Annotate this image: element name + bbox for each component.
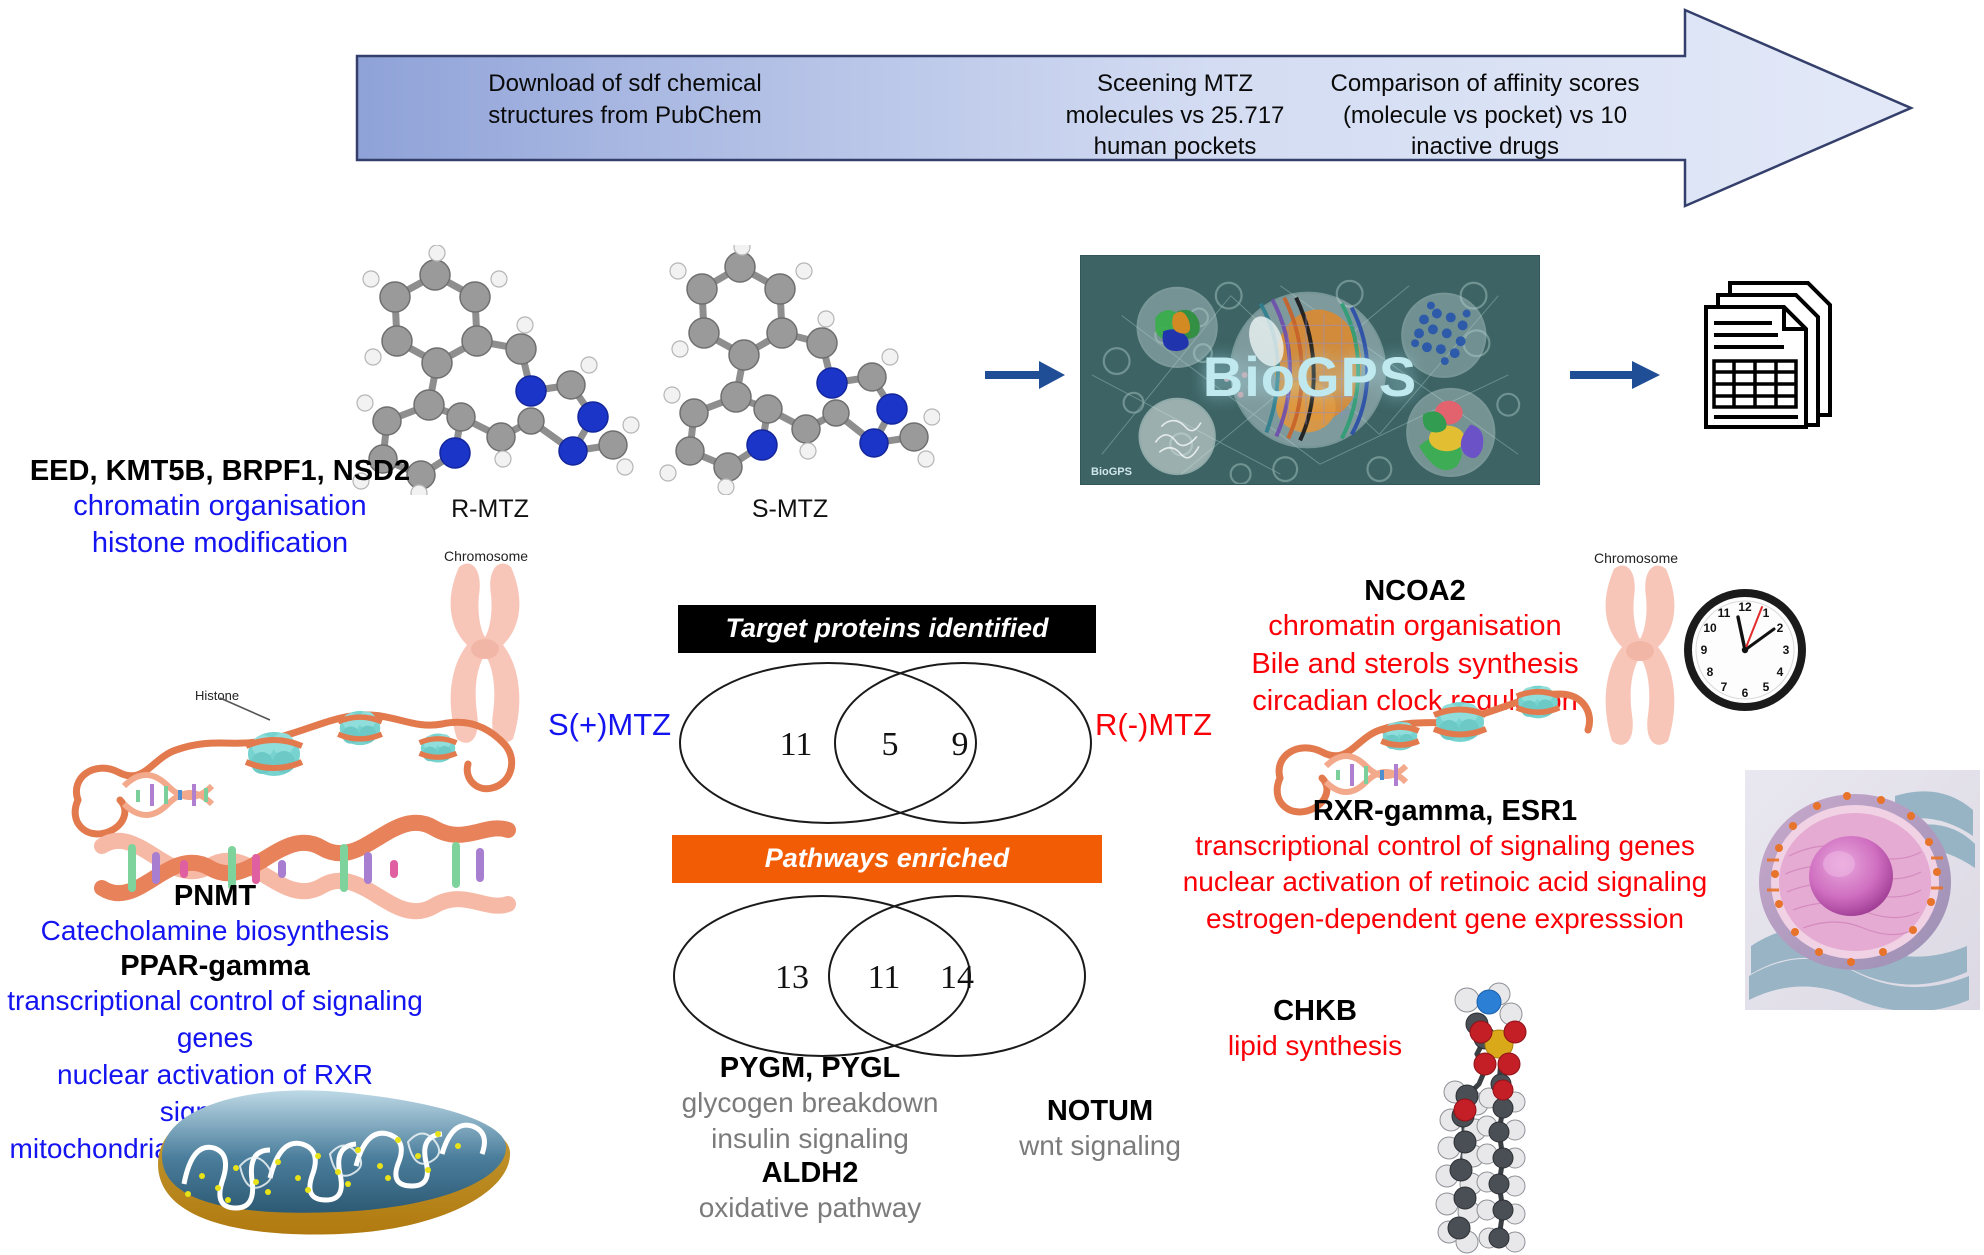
venn2-right-value: 14	[940, 959, 974, 996]
center-function-3a: wnt signaling	[970, 1128, 1230, 1164]
right-gene-block-3: CHKB lipid synthesis	[1185, 995, 1445, 1064]
svg-text:7: 7	[1721, 680, 1728, 694]
venn1-intersection-value: 5	[882, 726, 899, 763]
venn-diagram-pathways: 13 11 14	[662, 888, 1102, 1063]
biogps-title: BioGPS	[1081, 344, 1539, 409]
mitochondria-illustration	[140, 1080, 520, 1250]
banner-step-1: Download of sdf chemical structures from…	[475, 68, 775, 131]
center-function-2a: oxidative pathway	[600, 1190, 1020, 1226]
svg-text:8: 8	[1707, 665, 1714, 679]
venn1-left-value: 11	[780, 726, 813, 763]
venn-title-targets: Target proteins identified	[678, 605, 1096, 653]
venn1-right-value: 9	[952, 726, 969, 763]
right-function-3a: lipid synthesis	[1185, 1028, 1445, 1064]
left-function-1b: histone modification	[10, 525, 430, 562]
right-function-2b: nuclear activation of retinoic acid sign…	[1155, 864, 1735, 900]
nucleosome-group	[246, 711, 456, 776]
center-genes-2: ALDH2	[600, 1157, 1020, 1190]
center-genes-3: NOTUM	[970, 1095, 1230, 1128]
biogps-watermark: BioGPS	[1091, 466, 1132, 478]
s-plus-mtz-label: S(+)MTZ	[548, 707, 671, 743]
workflow-banner: Download of sdf chemical structures from…	[355, 8, 1915, 208]
s-mtz-molecule-model	[640, 245, 940, 495]
left-genes-2: PNMT	[0, 880, 430, 913]
svg-text:1: 1	[1763, 606, 1770, 620]
left-gene-block-1: EED, KMT5B, BRPF1, NSD2 chromatin organi…	[10, 455, 430, 562]
right-function-2a: transcriptional control of signaling gen…	[1155, 828, 1735, 864]
center-function-1a: glycogen breakdown	[600, 1085, 1020, 1121]
center-notum-block: NOTUM wnt signaling	[970, 1095, 1230, 1164]
figure-canvas: Download of sdf chemical structures from…	[0, 0, 1984, 1254]
banner-step-3: Comparison of affinity scores (molecule …	[1325, 68, 1645, 163]
biogps-panel: BioGPS BioGPS	[1080, 255, 1540, 485]
banner-step-2: Sceening MTZ molecules vs 25.717 human p…	[1045, 68, 1305, 163]
venn-diagram-targets: 11 5 9	[668, 655, 1108, 830]
circadian-clock-illustration: 12 1 2 3 4 5 6 7 8 9 10 11	[1680, 585, 1810, 715]
cell-nucleus-illustration	[1745, 770, 1980, 1010]
center-genes-1: PYGM, PYGL	[600, 1052, 1020, 1085]
left-genes-3: PPAR-gamma	[0, 950, 430, 983]
venn-title-pathways: Pathways enriched	[672, 835, 1102, 883]
svg-text:6: 6	[1742, 686, 1749, 700]
arrow-to-biogps-icon	[985, 355, 1065, 395]
svg-text:10: 10	[1703, 621, 1717, 635]
svg-text:12: 12	[1738, 600, 1752, 614]
left-genes-1: EED, KMT5B, BRPF1, NSD2	[10, 455, 430, 488]
svg-text:9: 9	[1701, 643, 1708, 657]
left-function-2a: Catecholamine biosynthesis	[0, 913, 430, 950]
right-genes-3: CHKB	[1185, 995, 1445, 1028]
results-document-icon	[1700, 265, 1850, 430]
svg-text:3: 3	[1783, 643, 1790, 657]
left-function-3a: transcriptional control of signaling gen…	[0, 983, 430, 1057]
right-genes-2: RXR-gamma, ESR1	[1155, 795, 1735, 828]
right-function-2c: estrogen-dependent gene expresssion	[1155, 901, 1735, 937]
phospholipid-molecule-illustration	[1415, 980, 1555, 1255]
arrow-to-results-icon	[1570, 355, 1660, 395]
venn2-intersection-value: 11	[868, 959, 901, 996]
svg-text:4: 4	[1777, 665, 1784, 679]
svg-text:2: 2	[1777, 621, 1784, 635]
center-function-1b: insulin signaling	[600, 1121, 1020, 1157]
s-mtz-label: S-MTZ	[700, 495, 880, 524]
svg-text:5: 5	[1763, 680, 1770, 694]
left-function-1a: chromatin organisation	[10, 488, 430, 525]
svg-text:11: 11	[1718, 606, 1731, 620]
venn2-left-value: 13	[775, 959, 809, 996]
right-gene-block-2: RXR-gamma, ESR1 transcriptional control …	[1155, 795, 1735, 937]
center-gene-block: PYGM, PYGL glycogen breakdown insulin si…	[600, 1052, 1020, 1225]
